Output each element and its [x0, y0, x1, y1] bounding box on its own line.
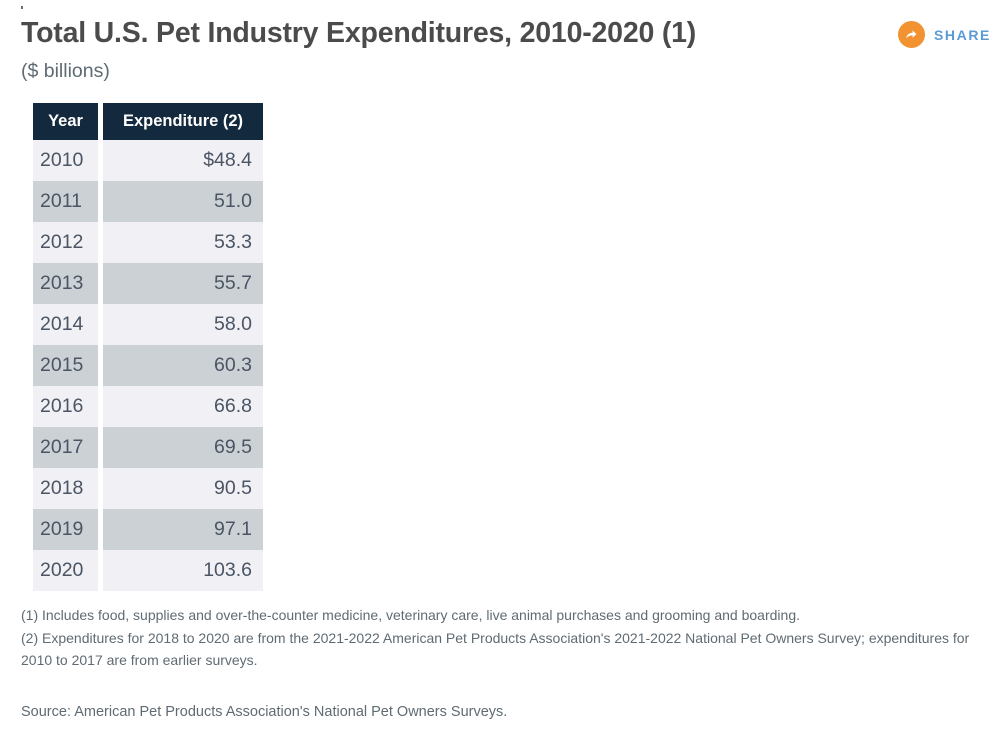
cell-expenditure: 51.0 [103, 181, 263, 222]
cell-expenditure: 97.1 [103, 509, 263, 550]
cell-year: 2015 [33, 345, 98, 386]
source-line: Source: American Pet Products Associatio… [21, 701, 507, 723]
table-row: 201458.0 [33, 304, 263, 345]
cell-year: 2018 [33, 468, 98, 509]
cell-expenditure: 58.0 [103, 304, 263, 345]
cell-year: 2010 [33, 140, 98, 181]
table-header-row: Year Expenditure (2) [33, 103, 263, 140]
top-text-artifact [21, 6, 23, 9]
table-row: 201151.0 [33, 181, 263, 222]
share-label: SHARE [934, 28, 991, 42]
cell-expenditure: 66.8 [103, 386, 263, 427]
cell-expenditure: 53.3 [103, 222, 263, 263]
expenditures-table: Year Expenditure (2) 2010$48.4201151.020… [33, 103, 263, 591]
share-button[interactable]: SHARE [898, 21, 991, 48]
cell-expenditure: 69.5 [103, 427, 263, 468]
cell-expenditure: 103.6 [103, 550, 263, 591]
table-row: 2020103.6 [33, 550, 263, 591]
footnotes: (1) Includes food, supplies and over-the… [21, 604, 979, 672]
column-header-expenditure: Expenditure (2) [103, 103, 263, 140]
page-root: Total U.S. Pet Industry Expenditures, 20… [0, 0, 995, 742]
table-row: 201769.5 [33, 427, 263, 468]
cell-year: 2014 [33, 304, 98, 345]
share-arrow-icon [898, 21, 925, 48]
table-row: 201997.1 [33, 509, 263, 550]
table-row: 201666.8 [33, 386, 263, 427]
cell-year: 2011 [33, 181, 98, 222]
cell-year: 2012 [33, 222, 98, 263]
page-title: Total U.S. Pet Industry Expenditures, 20… [21, 15, 696, 51]
cell-year: 2016 [33, 386, 98, 427]
cell-year: 2013 [33, 263, 98, 304]
table-row: 201355.7 [33, 263, 263, 304]
table-row: 2010$48.4 [33, 140, 263, 181]
footnote-2: (2) Expenditures for 2018 to 2020 are fr… [21, 627, 979, 672]
column-header-year: Year [33, 103, 98, 140]
cell-expenditure: 60.3 [103, 345, 263, 386]
footnote-1: (1) Includes food, supplies and over-the… [21, 604, 979, 627]
cell-year: 2019 [33, 509, 98, 550]
cell-expenditure: 55.7 [103, 263, 263, 304]
cell-expenditure: $48.4 [103, 140, 263, 181]
cell-expenditure: 90.5 [103, 468, 263, 509]
cell-year: 2020 [33, 550, 98, 591]
table-row: 201890.5 [33, 468, 263, 509]
page-subtitle: ($ billions) [21, 58, 110, 84]
table-head: Year Expenditure (2) [33, 103, 263, 140]
cell-year: 2017 [33, 427, 98, 468]
table-row: 201560.3 [33, 345, 263, 386]
table-body: 2010$48.4201151.0201253.3201355.7201458.… [33, 140, 263, 591]
table-row: 201253.3 [33, 222, 263, 263]
